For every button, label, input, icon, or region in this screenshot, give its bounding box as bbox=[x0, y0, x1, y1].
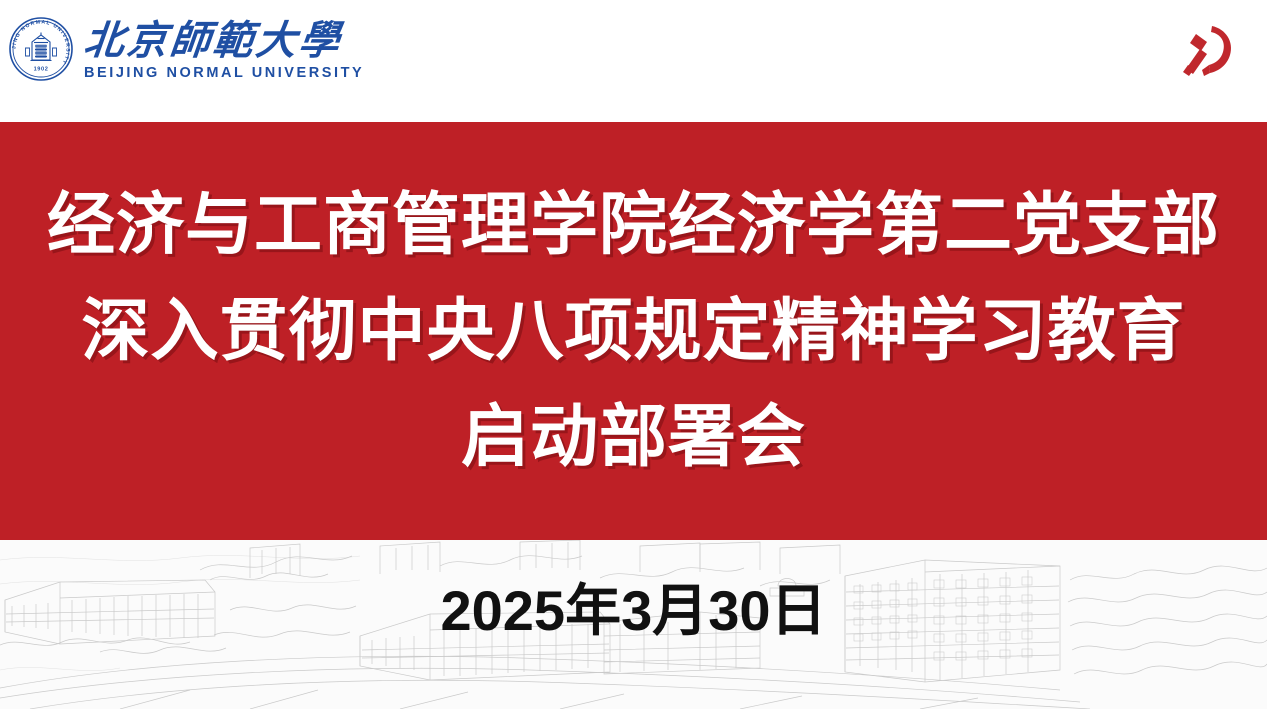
wordmark-chinese: 北京師範大學 bbox=[82, 19, 367, 63]
university-seal-icon: BEIJING NORMAL UNIVERSITY bbox=[8, 16, 74, 82]
svg-text:BEIJING NORMAL UNIVERSITY: BEIJING NORMAL UNIVERSITY bbox=[8, 16, 71, 66]
banner-title-line-1: 经济与工商管理学院经济学第二党支部 bbox=[47, 172, 1220, 278]
wordmark-english: BEIJING NORMAL UNIVERSITY bbox=[84, 64, 364, 82]
hammer-and-sickle-icon bbox=[1174, 18, 1240, 84]
banner-title-line-3: 启动部署会 bbox=[461, 384, 806, 490]
presentation-slide: BEIJING NORMAL UNIVERSITY bbox=[0, 0, 1267, 709]
university-wordmark: 北京師範大學 BEIJING NORMAL UNIVERSITY bbox=[84, 17, 364, 82]
svg-text:1902: 1902 bbox=[34, 67, 49, 73]
event-date: 2025年3月30日 bbox=[0, 578, 1267, 644]
banner-title-line-2: 深入贯彻中央八项规定精神学习教育 bbox=[81, 278, 1185, 384]
university-logo-lockup: BEIJING NORMAL UNIVERSITY bbox=[8, 16, 364, 82]
slide-header: BEIJING NORMAL UNIVERSITY bbox=[0, 0, 1267, 122]
title-banner: 经济与工商管理学院经济学第二党支部 深入贯彻中央八项规定精神学习教育 启动部署会 bbox=[0, 122, 1267, 540]
